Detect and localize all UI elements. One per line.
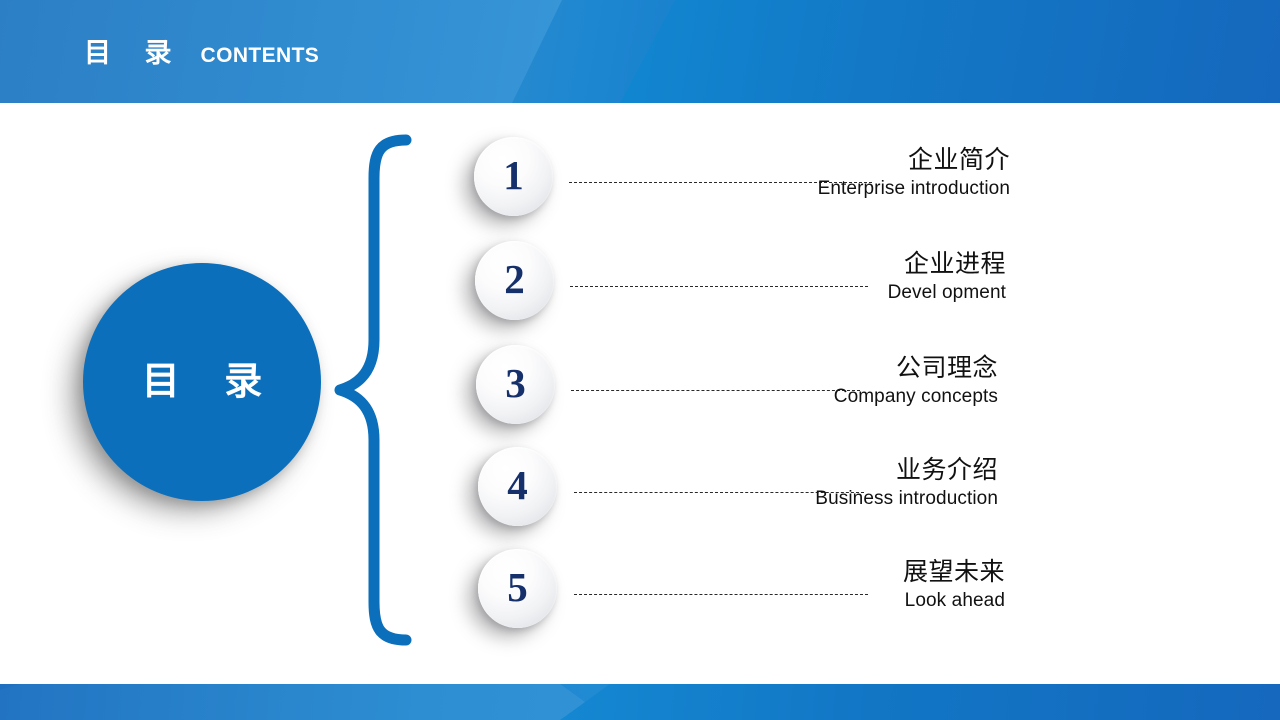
item-number-circle[interactable]: 1: [474, 137, 553, 216]
item-label-block: 公司理念 Company concepts: [651, 353, 998, 409]
item-title-en: Look ahead: [653, 589, 1005, 613]
item-title-en: Company concepts: [651, 385, 998, 409]
item-number-circle[interactable]: 3: [476, 345, 555, 424]
item-number: 5: [507, 567, 528, 608]
item-number-circle[interactable]: 2: [475, 241, 554, 320]
item-title-en: Devel opment: [655, 281, 1006, 305]
item-number-circle[interactable]: 5: [478, 549, 557, 628]
item-label-block: 展望未来 Look ahead: [653, 557, 1005, 613]
slide-contents-page: 目 录 CONTENTS 目 录 1 企业简介 Enterprise intro…: [0, 0, 1280, 720]
list-item[interactable]: 3 公司理念 Company concepts: [476, 345, 1216, 427]
item-label-block: 企业进程 Devel opment: [655, 249, 1006, 305]
list-item[interactable]: 5 展望未来 Look ahead: [478, 549, 1218, 631]
item-label-block: 企业简介 Enterprise introduction: [654, 145, 1010, 201]
page-title-cn: 目 录: [84, 40, 185, 67]
item-title-en: Enterprise introduction: [654, 177, 1010, 201]
footer-diagonal-band-dark: [540, 684, 1280, 720]
page-title: 目 录 CONTENTS: [84, 40, 319, 67]
item-number: 3: [505, 363, 526, 404]
item-title-cn: 展望未来: [653, 557, 1005, 589]
item-title-cn: 公司理念: [651, 353, 998, 385]
item-title-cn: 企业进程: [655, 249, 1006, 281]
item-title-en: Business introduction: [650, 487, 998, 511]
list-item[interactable]: 2 企业进程 Devel opment: [475, 241, 1215, 323]
list-item[interactable]: 1 企业简介 Enterprise introduction: [474, 137, 1214, 219]
item-number: 4: [507, 465, 528, 506]
page-title-en: CONTENTS: [201, 45, 320, 66]
item-title-cn: 企业简介: [654, 145, 1010, 177]
item-title-cn: 业务介绍: [650, 455, 998, 487]
contents-item-list: 1 企业简介 Enterprise introduction 2 企业进程 De…: [0, 0, 1280, 720]
list-item[interactable]: 4 业务介绍 Business introduction: [478, 447, 1218, 529]
item-number: 2: [504, 259, 525, 300]
item-label-block: 业务介绍 Business introduction: [650, 455, 998, 511]
item-number-circle[interactable]: 4: [478, 447, 557, 526]
item-number: 1: [503, 155, 524, 196]
footer-banner: [0, 684, 1280, 720]
